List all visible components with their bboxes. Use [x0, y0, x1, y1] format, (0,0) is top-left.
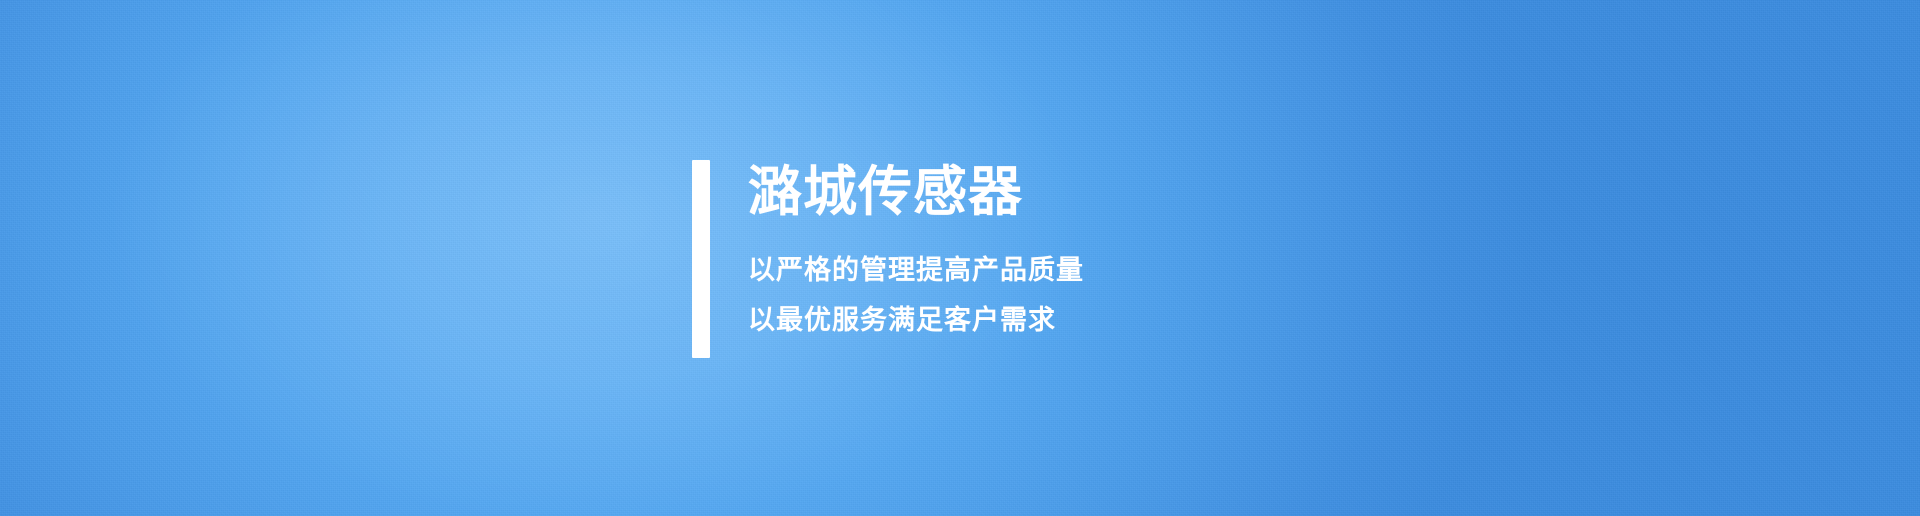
- banner-tagline-2: 以最优服务满足客户需求: [748, 304, 1084, 336]
- banner-tagline-1: 以严格的管理提高产品质量: [748, 254, 1084, 286]
- banner-headline: 潞城传感器: [748, 162, 1084, 222]
- hero-banner: 潞城传感器 以严格的管理提高产品质量 以最优服务满足客户需求: [0, 0, 1920, 516]
- banner-text-block: 潞城传感器 以严格的管理提高产品质量 以最优服务满足客户需求: [748, 160, 1084, 358]
- banner-content: 潞城传感器 以严格的管理提高产品质量 以最优服务满足客户需求: [692, 160, 1084, 358]
- vertical-accent-bar: [692, 160, 710, 358]
- banner-tagline-list: 以严格的管理提高产品质量 以最优服务满足客户需求: [748, 254, 1084, 336]
